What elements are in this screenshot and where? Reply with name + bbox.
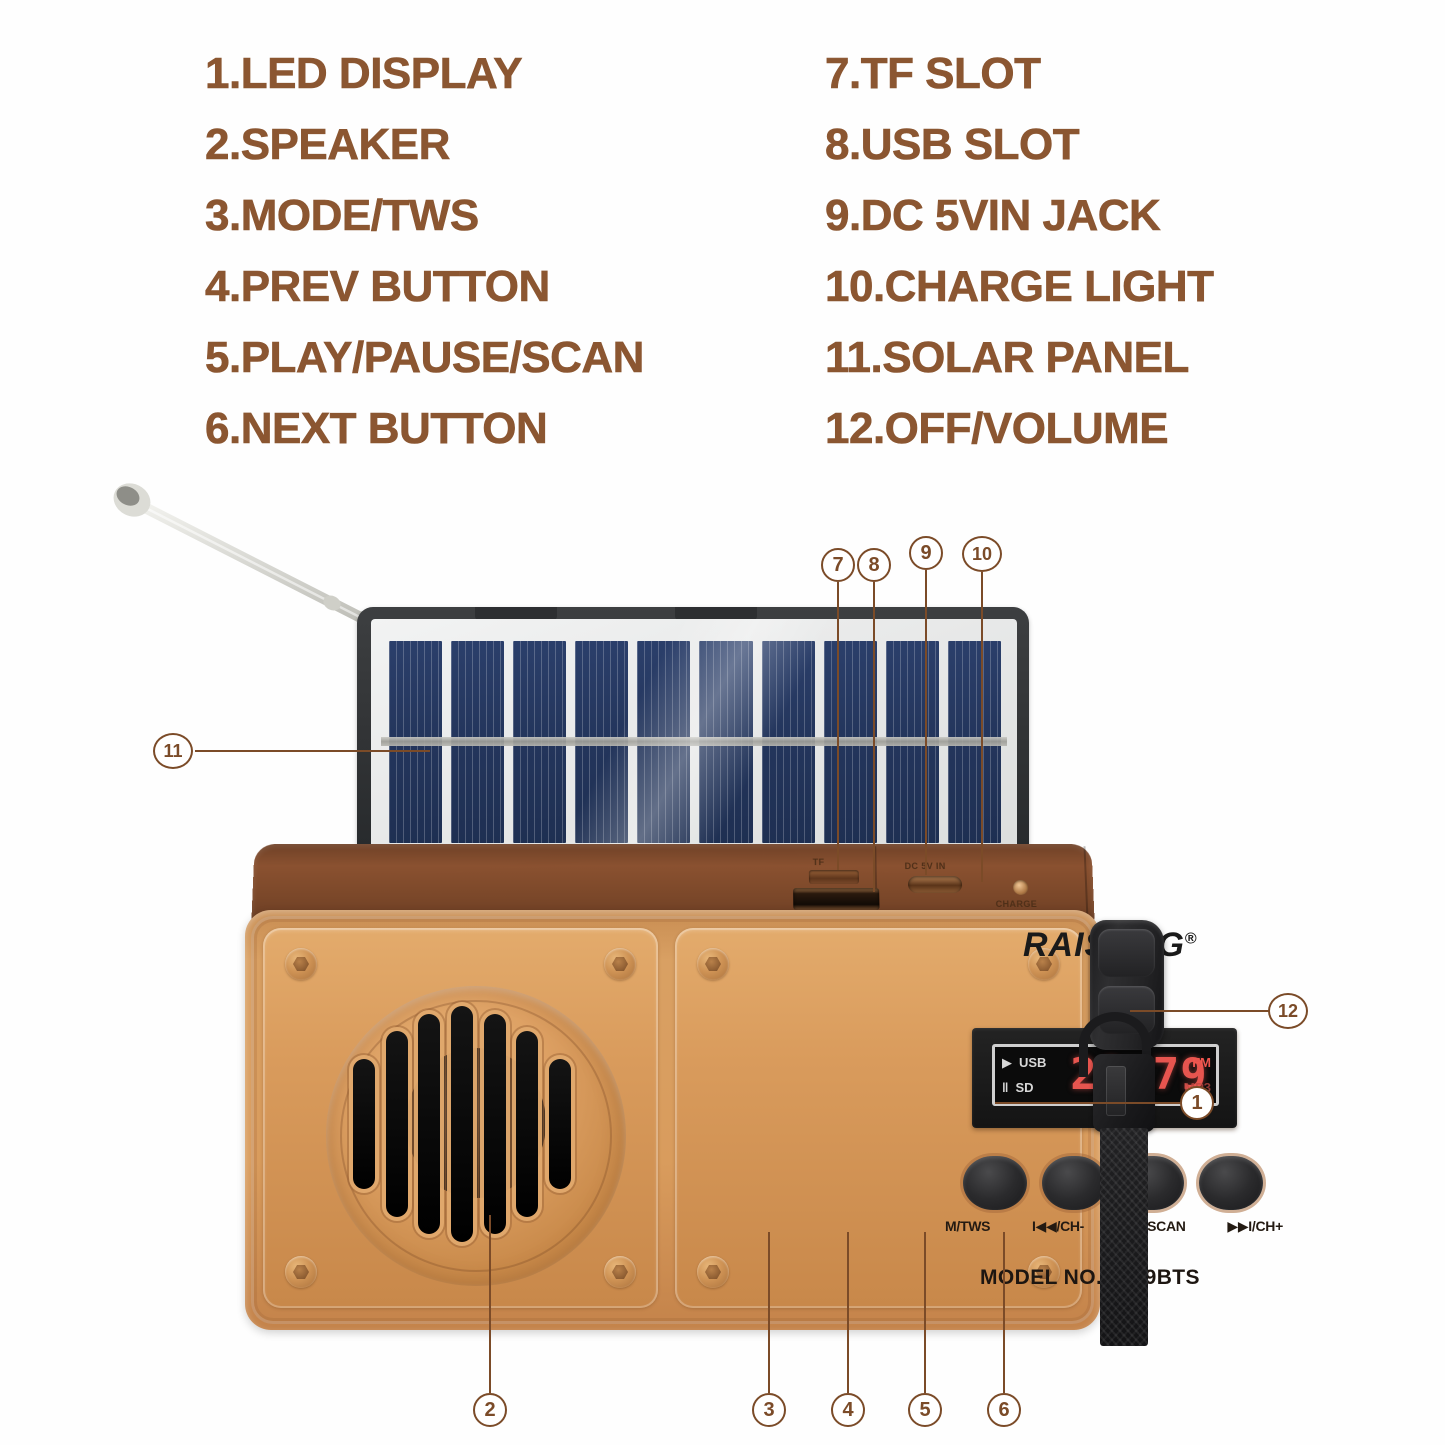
callout-7-leader bbox=[837, 582, 839, 870]
callout-4-leader bbox=[847, 1232, 849, 1393]
callout-9: 9 bbox=[909, 536, 943, 570]
callout-12: 12 bbox=[1268, 993, 1308, 1029]
grille-slot bbox=[484, 1014, 506, 1234]
speaker-grille bbox=[353, 1000, 571, 1248]
callout-11-leader bbox=[195, 750, 430, 752]
deck-seam bbox=[1083, 846, 1088, 920]
solar-busbar bbox=[381, 737, 1007, 746]
screw-icon bbox=[604, 1256, 636, 1288]
legend-item-1: 1.LED DISPLAY bbox=[205, 38, 644, 109]
callout-3: 3 bbox=[752, 1393, 786, 1427]
antenna-tip-knob bbox=[110, 477, 156, 523]
mode-tws-button[interactable] bbox=[963, 1156, 1027, 1210]
callout-5: 5 bbox=[908, 1393, 942, 1427]
usb-slot[interactable] bbox=[793, 888, 879, 910]
callout-1: 1 bbox=[1180, 1086, 1214, 1120]
legend-item-4: 4.PREV BUTTON bbox=[205, 251, 644, 322]
callout-11: 11 bbox=[153, 733, 193, 769]
legend-item-8: 8.USB SLOT bbox=[825, 109, 1214, 180]
callout-1-leader bbox=[995, 1102, 1181, 1104]
registered-mark-icon: ® bbox=[1185, 931, 1198, 948]
solar-panel bbox=[357, 607, 1029, 857]
callout-8-leader bbox=[873, 582, 875, 892]
pause-icon: ‖ bbox=[1002, 1080, 1008, 1095]
product-photo: TF USB DC 5V IN CHARGE bbox=[0, 440, 1445, 1445]
callout-4: 4 bbox=[831, 1393, 865, 1427]
legend-item-10: 10.CHARGE LIGHT bbox=[825, 251, 1214, 322]
callout-6-leader bbox=[1003, 1232, 1005, 1393]
legend-item-2: 2.SPEAKER bbox=[205, 109, 644, 180]
callout-8: 8 bbox=[857, 548, 891, 582]
sd-indicator: SD bbox=[1015, 1080, 1033, 1095]
mode-tws-label: M/TWS bbox=[945, 1218, 990, 1235]
tf-slot[interactable] bbox=[809, 870, 859, 884]
grille-slot bbox=[353, 1059, 375, 1189]
radio-body: TF USB DC 5V IN CHARGE bbox=[245, 844, 1100, 1344]
next-button[interactable] bbox=[1199, 1156, 1263, 1210]
legend-panel: 1.LED DISPLAY 2.SPEAKER 3.MODE/TWS 4.PRE… bbox=[0, 0, 1445, 470]
legend-right-column: 7.TF SLOT 8.USB SLOT 9.DC 5VIN JACK 10.C… bbox=[825, 38, 1214, 464]
dc-jack[interactable] bbox=[908, 876, 962, 893]
usb-indicator: USB bbox=[1019, 1055, 1046, 1070]
screw-icon bbox=[604, 948, 636, 980]
callout-7: 7 bbox=[821, 548, 855, 582]
legend-item-7: 7.TF SLOT bbox=[825, 38, 1214, 109]
tf-slot-caption: TF bbox=[813, 857, 825, 867]
callout-10-leader bbox=[981, 572, 983, 882]
grille-slot bbox=[549, 1059, 571, 1189]
grille-slot bbox=[386, 1031, 408, 1217]
callout-5-leader bbox=[924, 1232, 926, 1393]
play-icon: ▶ bbox=[1002, 1055, 1012, 1071]
legend-item-3: 3.MODE/TWS bbox=[205, 180, 644, 251]
callout-9-leader bbox=[925, 570, 927, 875]
callout-12-leader bbox=[1130, 1010, 1270, 1012]
screw-icon bbox=[285, 948, 317, 980]
grille-slot bbox=[516, 1031, 538, 1217]
callout-10: 10 bbox=[962, 536, 1002, 572]
prev-button[interactable] bbox=[1042, 1156, 1106, 1210]
fm-indicator: FM bbox=[1159, 1050, 1211, 1075]
legend-item-9: 9.DC 5VIN JACK bbox=[825, 180, 1214, 251]
speaker-bezel bbox=[263, 928, 658, 1308]
charge-light-caption: CHARGE bbox=[996, 899, 1038, 909]
speaker bbox=[326, 986, 626, 1286]
model-number: MODEL NO.:R-49BTS bbox=[980, 1266, 1200, 1290]
display-left-indicators: ▶ USB ‖ SD bbox=[1002, 1050, 1080, 1100]
solar-panel-face bbox=[371, 619, 1017, 857]
charge-light bbox=[1013, 880, 1029, 895]
legend-left-column: 1.LED DISPLAY 2.SPEAKER 3.MODE/TWS 4.PRE… bbox=[205, 38, 644, 464]
next-label: ▶▶I/CH+ bbox=[1227, 1218, 1283, 1235]
front-panel: RAISENG® ▶ USB ‖ SD bbox=[245, 910, 1100, 1330]
knob-ridge bbox=[1098, 929, 1155, 977]
callout-3-leader bbox=[768, 1232, 770, 1393]
wrist-strap bbox=[1100, 1128, 1148, 1346]
screw-icon bbox=[285, 1256, 317, 1288]
grille-slot bbox=[451, 1006, 473, 1242]
legend-item-5: 5.PLAY/PAUSE/SCAN bbox=[205, 322, 644, 393]
callout-6: 6 bbox=[987, 1393, 1021, 1427]
strap-clip bbox=[1093, 1054, 1155, 1132]
callout-2: 2 bbox=[473, 1393, 507, 1427]
screw-icon bbox=[697, 1256, 729, 1288]
screw-icon bbox=[697, 948, 729, 980]
callout-2-leader bbox=[489, 1215, 491, 1393]
prev-label: I◀◀/CH- bbox=[1032, 1218, 1084, 1235]
grille-slot bbox=[418, 1014, 440, 1234]
legend-item-11: 11.SOLAR PANEL bbox=[825, 322, 1214, 393]
control-bezel: RAISENG® ▶ USB ‖ SD bbox=[675, 928, 1082, 1308]
